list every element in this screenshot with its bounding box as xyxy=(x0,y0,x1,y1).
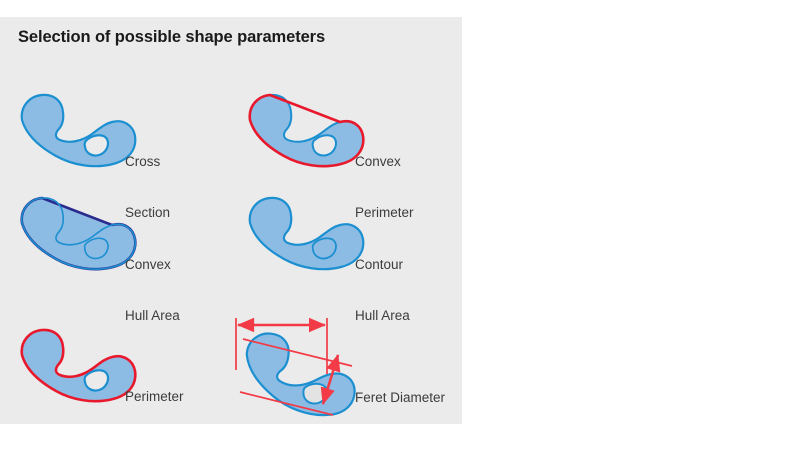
shape-convex-perimeter xyxy=(250,95,364,166)
shape-contour-hull-area xyxy=(250,198,364,269)
contour-hull-area-blob xyxy=(250,198,364,269)
label-contour-hull-area: Contour Hull Area xyxy=(355,222,410,358)
perimeter-hole xyxy=(85,370,108,390)
label-cross-section-line1: Cross xyxy=(125,153,170,170)
figure-root: Selection of possible shape parameters xyxy=(0,0,800,452)
label-convex-perimeter-line2: Perimeter xyxy=(355,204,414,221)
label-cross-section-line2: Section xyxy=(125,204,170,221)
shape-feret-diameter xyxy=(236,318,363,421)
label-perimeter: Perimeter xyxy=(125,354,184,439)
shape-perimeter xyxy=(22,330,136,401)
label-contour-hull-area-line1: Contour xyxy=(355,256,410,273)
label-convex-perimeter-line1: Convex xyxy=(355,153,414,170)
label-contour-hull-area-line2: Hull Area xyxy=(355,307,410,324)
label-feret-diameter-line1: Feret Diameter xyxy=(355,389,445,406)
convex-hull-area-fill xyxy=(22,198,136,269)
feret-label-leader xyxy=(336,362,352,366)
label-convex-hull-area-line2: Hull Area xyxy=(125,307,180,324)
shape-cross-section xyxy=(22,95,136,166)
cross-section-blob xyxy=(22,95,136,166)
label-convex-hull-area-line1: Convex xyxy=(125,256,180,273)
cross-section-hole xyxy=(85,135,108,155)
shape-convex-hull-area xyxy=(22,198,136,269)
contour-hull-area-hole-filled xyxy=(313,238,336,258)
convex-perimeter-hole xyxy=(313,135,336,155)
perimeter-blob-outline xyxy=(22,330,136,401)
label-convex-hull-area: Convex Hull Area xyxy=(125,222,180,358)
label-perimeter-line1: Perimeter xyxy=(125,388,184,405)
convex-perimeter-blob xyxy=(250,95,364,166)
label-feret-diameter: Feret Diameter xyxy=(355,355,445,440)
